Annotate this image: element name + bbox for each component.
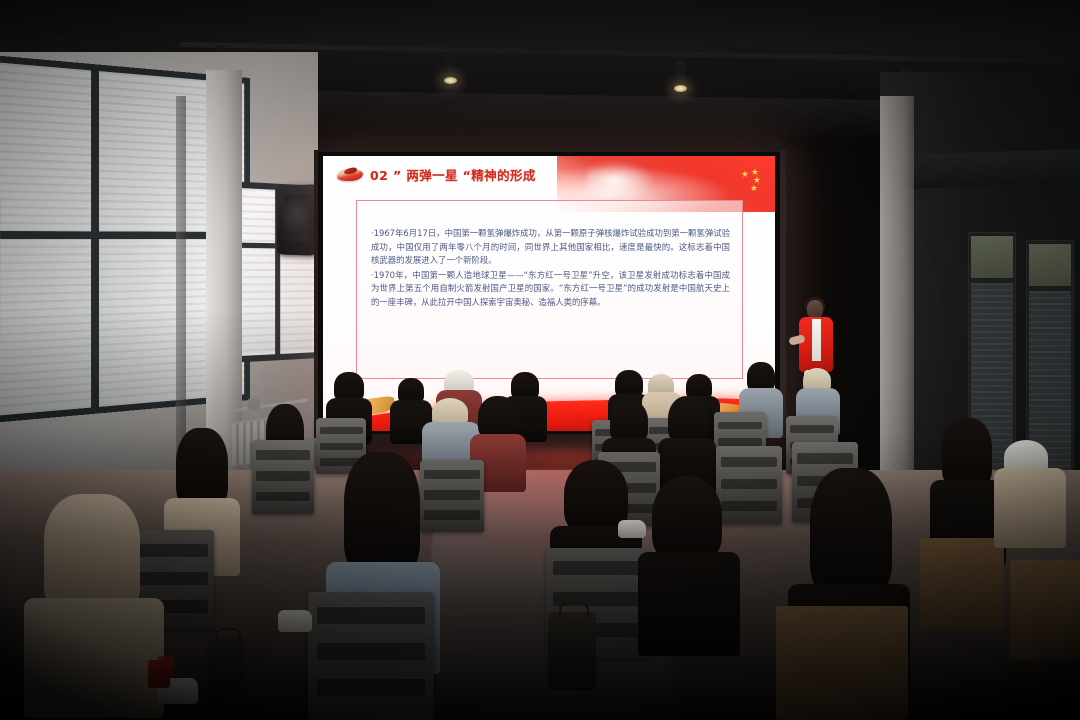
audience-chair — [308, 592, 434, 720]
flag-star-icon: ★ — [741, 170, 749, 179]
floor-object-red — [158, 656, 174, 678]
shoe — [618, 520, 646, 538]
slide-paragraph-2: ·1970年，中国第一颗人造地球卫星——“东方红一号卫星”升空，该卫星发射成功标… — [371, 269, 730, 310]
right-soffit — [899, 149, 1080, 189]
party-flag-emblem-icon — [337, 167, 363, 183]
track-light-icon — [676, 61, 685, 87]
door-glass — [971, 236, 1013, 278]
audience-chair — [716, 446, 782, 524]
slide-title-row: 02 ” 两弹一星 “精神的形成 — [337, 165, 536, 184]
cloud-decoration — [587, 160, 657, 194]
audience-chair — [1010, 560, 1080, 660]
lecture-hall-scene: ★ ★ ★ ★ 02 ” 两弹一星 “精神的形成 ·1967年6月17日，中国第… — [0, 0, 1080, 720]
slide-title: 02 ” 两弹一星 “精神的形成 — [370, 165, 536, 184]
audience-chair — [420, 460, 484, 532]
presenter-red-vest — [799, 317, 833, 372]
audience-chair — [920, 538, 1004, 630]
track-light-icon — [446, 53, 455, 79]
flag-star-icon: ★ — [750, 184, 758, 193]
shoe — [278, 610, 312, 632]
door-glass — [1029, 244, 1071, 286]
slide-paragraph-1: ·1967年6月17日，中国第一颗氢弹爆炸成功，从第一颗原子弹核爆炸试验成功到第… — [371, 227, 730, 268]
handbag — [206, 638, 246, 700]
backpack — [548, 612, 596, 690]
audience-chair — [252, 440, 314, 514]
audience-chair — [776, 606, 908, 720]
slide-content-box: ·1967年6月17日，中国第一颗氢弹爆炸成功，从第一颗原子弹核爆炸试验成功到第… — [356, 200, 743, 379]
slide-body-text: ·1967年6月17日，中国第一颗氢弹爆炸成功，从第一颗原子弹核爆炸试验成功到第… — [371, 227, 730, 311]
